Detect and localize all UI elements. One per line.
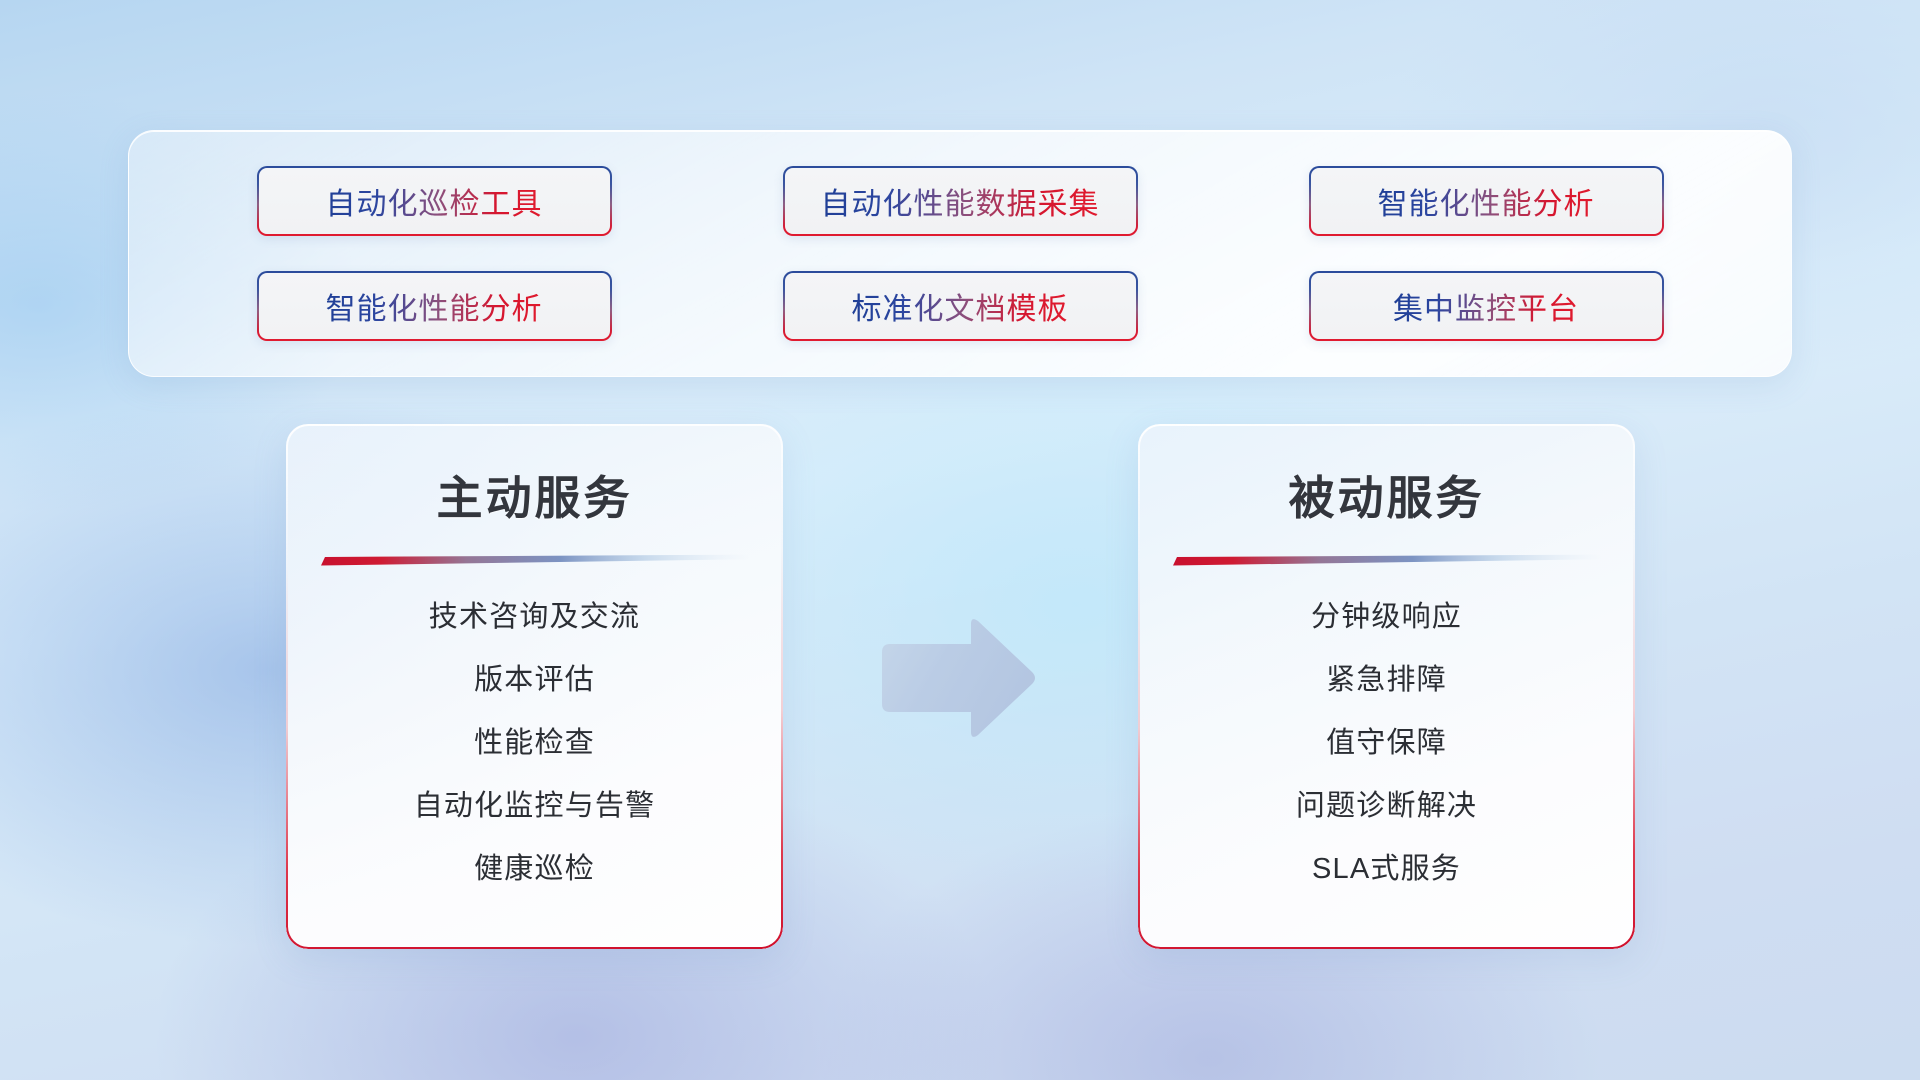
capability-tag-label: 集中监控平台 <box>1393 284 1579 328</box>
service-item-list: 技术咨询及交流 版本评估 性能检查 自动化监控与告警 健康巡检 <box>286 593 783 887</box>
service-list-item: 健康巡检 <box>474 845 595 887</box>
service-list-item: 自动化监控与告警 <box>414 782 656 824</box>
service-list-item: 技术咨询及交流 <box>429 593 640 635</box>
capability-tag-label: 智能化性能分析 <box>326 284 543 328</box>
service-list-item: 值守保障 <box>1326 719 1447 761</box>
capability-tag-surface: 自动化巡检工具 <box>259 168 610 234</box>
capability-tag-label: 智能化性能分析 <box>1378 179 1595 223</box>
capability-tag[interactable]: 自动化巡检工具 <box>257 166 612 236</box>
capability-tag[interactable]: 标准化文档模板 <box>783 271 1138 341</box>
service-list-item: 分钟级响应 <box>1311 593 1462 635</box>
title-divider <box>1173 554 1601 567</box>
card-title: 主动服务 <box>286 462 783 528</box>
capability-tag[interactable]: 集中监控平台 <box>1309 271 1664 341</box>
capability-tag-surface: 集中监控平台 <box>1311 273 1662 339</box>
capability-tag[interactable]: 智能化性能分析 <box>1309 166 1664 236</box>
service-list-item: SLA式服务 <box>1312 845 1461 887</box>
title-divider <box>321 554 749 567</box>
capability-tag-label: 标准化文档模板 <box>852 284 1069 328</box>
service-list-item: 版本评估 <box>474 656 595 698</box>
capability-tag-panel: 自动化巡检工具 自动化性能数据采集 智能化性能分析 智能化性能分析 标准化文档模… <box>128 130 1792 377</box>
capability-tag-surface: 标准化文档模板 <box>785 273 1136 339</box>
capability-tag-surface: 自动化性能数据采集 <box>785 168 1136 234</box>
service-list-item: 紧急排障 <box>1326 656 1447 698</box>
service-card-passive[interactable]: 被动服务 分钟级响应 紧急排障 值守保障 <box>1138 424 1635 949</box>
slide-canvas: 自动化巡检工具 自动化性能数据采集 智能化性能分析 智能化性能分析 标准化文档模… <box>0 0 1920 1080</box>
capability-tag-surface: 智能化性能分析 <box>1311 168 1662 234</box>
service-card-active[interactable]: 主动服务 技术咨询及交流 版本评估 性能检查 <box>286 424 783 949</box>
capability-tag-label: 自动化巡检工具 <box>326 179 543 223</box>
card-title: 被动服务 <box>1138 462 1635 528</box>
capability-tag-label: 自动化性能数据采集 <box>821 179 1100 223</box>
capability-tag[interactable]: 自动化性能数据采集 <box>783 166 1138 236</box>
flow-arrow-right-icon <box>872 614 1038 744</box>
service-list-item: 问题诊断解决 <box>1296 782 1477 824</box>
service-item-list: 分钟级响应 紧急排障 值守保障 问题诊断解决 SLA式服务 <box>1138 593 1635 887</box>
capability-tag[interactable]: 智能化性能分析 <box>257 271 612 341</box>
service-list-item: 性能检查 <box>474 719 595 761</box>
capability-tag-surface: 智能化性能分析 <box>259 273 610 339</box>
